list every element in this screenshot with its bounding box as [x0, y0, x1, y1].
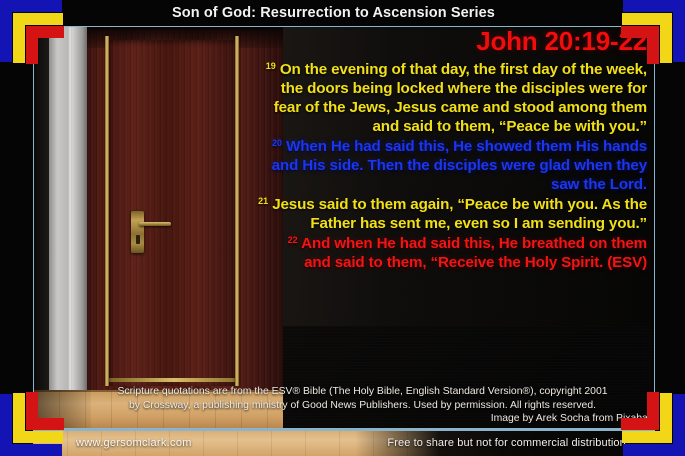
copyright-line-1: Scripture quotations are from the ESV® B…: [60, 385, 655, 399]
door-frame-jamb: [49, 26, 87, 390]
scripture-reference: John 20:19-22: [258, 28, 647, 55]
verse-21: 21 Jesus said to them again, “Peace be w…: [258, 195, 647, 233]
verse-number-22: 22: [288, 235, 298, 245]
scripture-block: John 20:19-22 19 On the evening of that …: [258, 28, 655, 383]
door-image: [33, 26, 283, 429]
copyright-line-2: by Crossway, a publishing ministry of Go…: [60, 399, 655, 413]
verse-20: 20 When He had said this, He showed them…: [258, 137, 647, 194]
door-keyhole: [136, 235, 140, 244]
corner-bar-yellow-vertical: [660, 393, 672, 443]
footer-bar: www.gersomclark.com Free to share but no…: [33, 429, 655, 456]
door-panel: [87, 26, 283, 390]
image-attribution: Image by Arek Socha from Pixabay: [60, 412, 655, 426]
verse-number-20: 20: [272, 138, 282, 148]
corner-bar-yellow-vertical: [13, 393, 25, 443]
site-url-link[interactable]: www.gersomclark.com: [76, 437, 192, 449]
wood-grain-texture-inset: [109, 40, 239, 386]
wall-dark: [33, 26, 49, 390]
door-handle-plate: [131, 211, 144, 253]
verse-text-20: When He had said this, He showed them Hi…: [272, 138, 647, 193]
door-gold-trim-left: [105, 36, 109, 386]
door-handle-lever: [139, 222, 171, 226]
verse-22: 22 And when He had said this, He breathe…: [258, 234, 647, 272]
verse-number-19: 19: [266, 61, 276, 71]
door-inset-bottom-trim: [109, 378, 239, 382]
verse-text-19: On the evening of that day, the first da…: [274, 61, 647, 135]
verse-text-22: And when He had said this, He breathed o…: [301, 235, 647, 271]
door-gold-trim-right: [235, 36, 239, 386]
copyright-block: Scripture quotations are from the ESV® B…: [60, 385, 655, 426]
corner-bar-blue-vertical: [673, 394, 685, 456]
door-inset-panel: [109, 40, 239, 386]
corner-bar-blue-vertical: [0, 394, 12, 456]
series-title-text: Son of God: Resurrection to Ascension Se…: [172, 5, 513, 21]
footer-top-accent-line: [33, 429, 655, 431]
slide-canvas: Son of God: Resurrection to Ascension Se…: [0, 0, 685, 456]
verse-number-21: 21: [258, 196, 268, 206]
verse-19: 19 On the evening of that day, the first…: [258, 60, 647, 136]
verse-text-21: Jesus said to them again, “Peace be with…: [272, 196, 647, 232]
series-title-bar: Son of God: Resurrection to Ascension Se…: [0, 0, 685, 26]
share-notice-text: Free to share but not for commercial dis…: [387, 437, 629, 449]
